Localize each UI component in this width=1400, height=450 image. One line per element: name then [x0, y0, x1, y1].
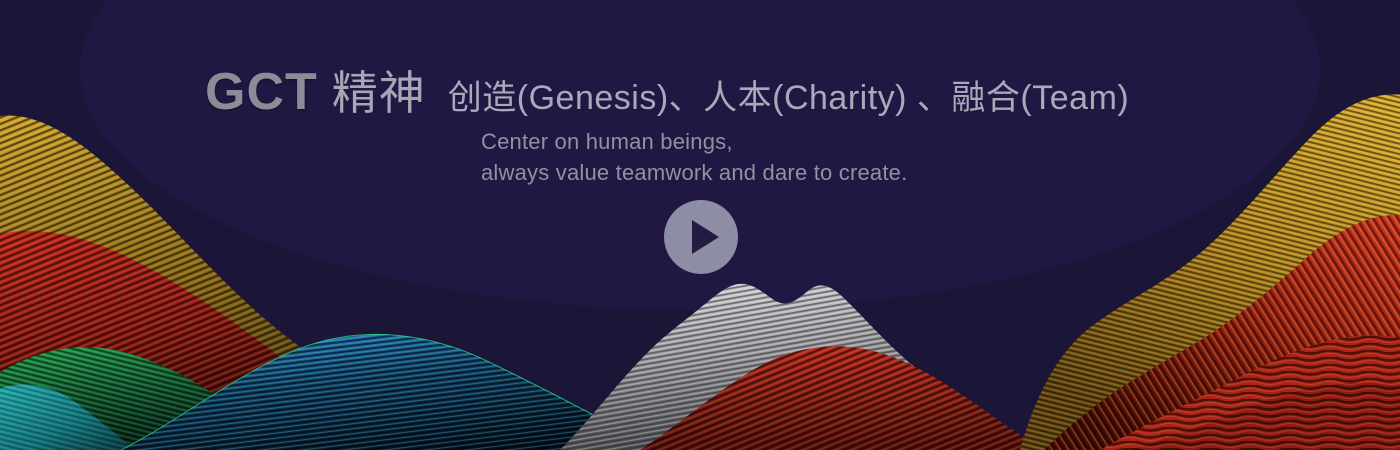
play-icon [692, 220, 719, 254]
hero-banner: GCT 精神 创造(Genesis)、人本(Charity) 、融合(Team)… [0, 0, 1400, 450]
play-video-button[interactable] [664, 200, 738, 274]
